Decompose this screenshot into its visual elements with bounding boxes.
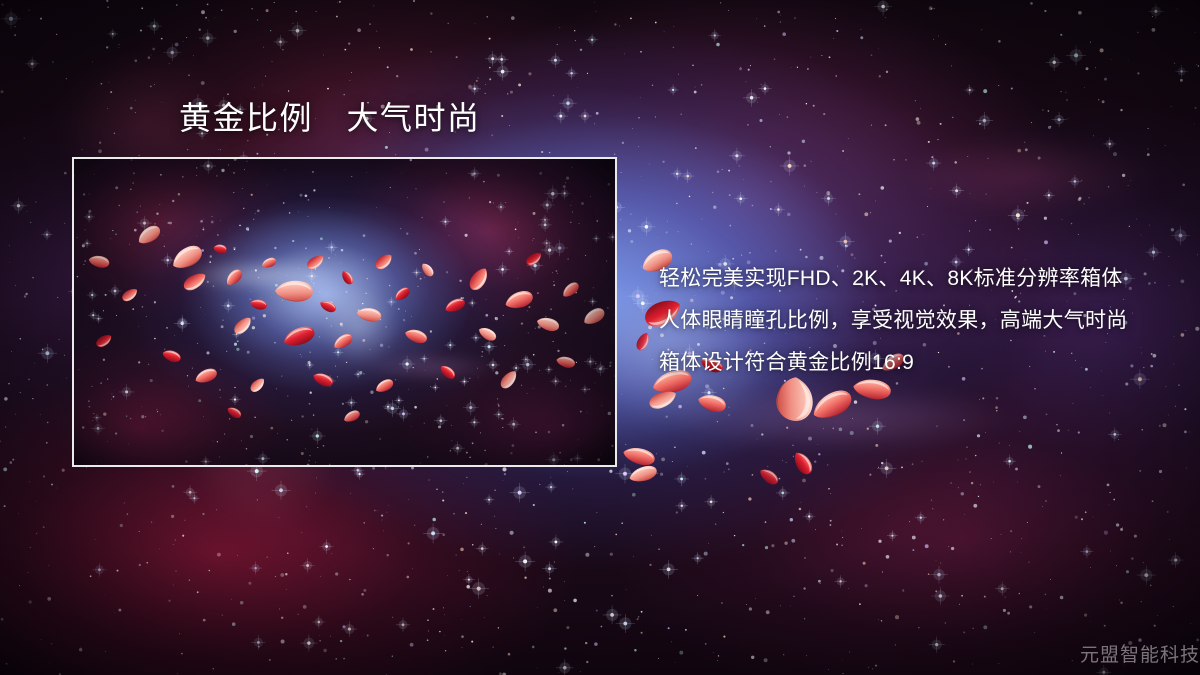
body-line-1: 轻松完美实现FHD、2K、4K、8K标准分辨率箱体: [659, 258, 1159, 300]
slide-canvas: 黄金比例 大气时尚 轻松完美实现FHD、2K、4K、8K标准分辨率箱体 人体眼睛…: [0, 0, 1200, 675]
page-title: 黄金比例 大气时尚: [179, 100, 481, 137]
body-text-block: 轻松完美实现FHD、2K、4K、8K标准分辨率箱体 人体眼睛瞳孔比例，享受视觉效…: [659, 258, 1159, 384]
flower-petal: [646, 386, 680, 412]
body-line-2: 人体眼睛瞳孔比例，享受视觉效果，高端大气时尚: [659, 300, 1159, 342]
flower-petal: [634, 330, 654, 353]
display-panel-screen: [74, 159, 615, 465]
panel-vignette: [74, 159, 615, 465]
watermark-label: 元盟智能科技: [1080, 640, 1200, 667]
body-line-3: 箱体设计符合黄金比例16:9: [659, 342, 1159, 384]
flower-petal: [807, 384, 858, 426]
flower-petal: [627, 463, 660, 486]
flower-petal: [790, 448, 816, 478]
flower-petal: [756, 464, 781, 488]
flower-petal: [695, 389, 729, 416]
flower-petal: [620, 442, 658, 470]
display-panel-frame: [72, 157, 617, 467]
